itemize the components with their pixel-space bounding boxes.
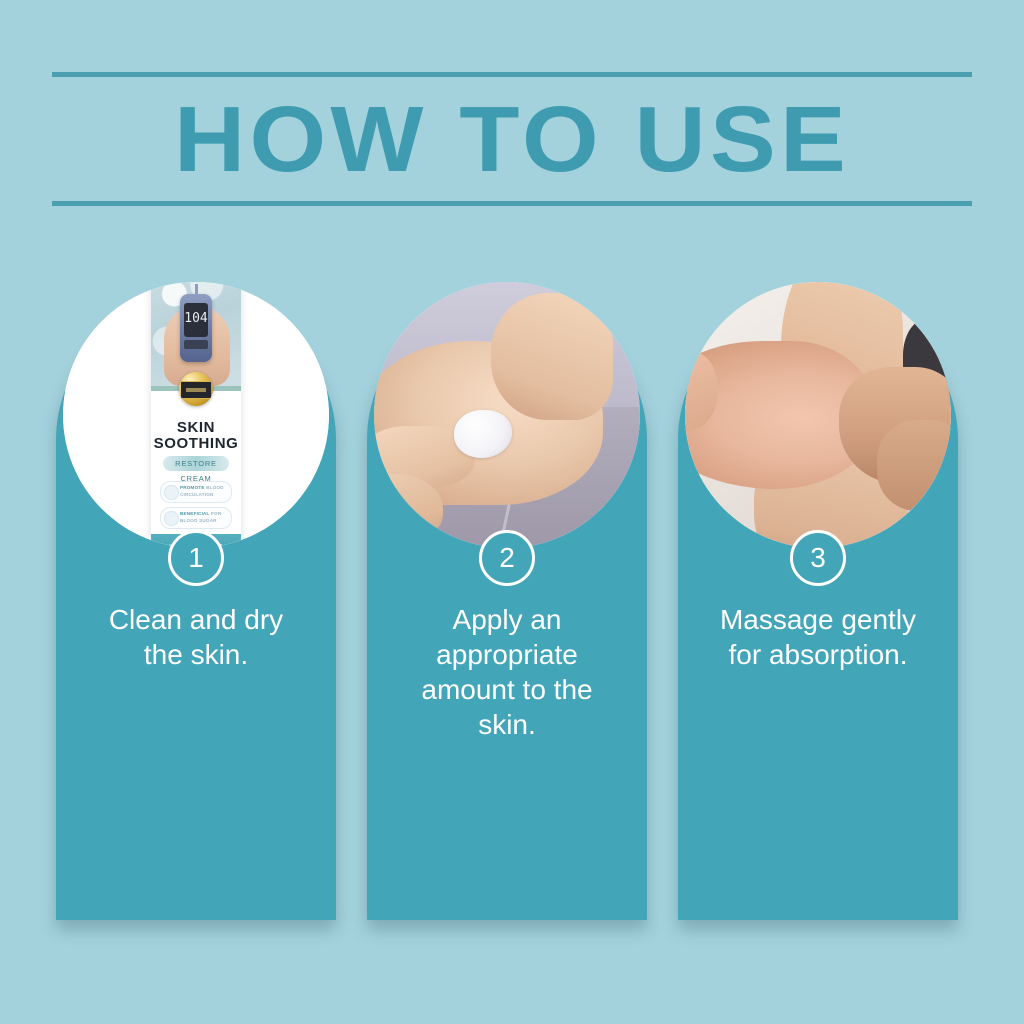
cream-tube: 104 SKIN SOOTHING [151, 282, 241, 548]
product-feature-1-text: PROMOTE BLOOD CIRCULATION [180, 485, 228, 498]
step-number-badge-1: 1 [168, 530, 224, 586]
step-caption-3: Massage gently for absorption. [692, 602, 944, 672]
tube-label: SKIN SOOTHING RESTORE CREAM PROMOTE BLOO… [151, 386, 241, 534]
product-tube-illustration: 104 SKIN SOOTHING [63, 282, 329, 548]
ankle-shape [491, 293, 613, 421]
step-card-2[interactable]: 2 Apply an appropriate amount to the ski… [367, 300, 647, 920]
product-feature-1: PROMOTE BLOOD CIRCULATION [160, 481, 232, 503]
steps-row: 104 SKIN SOOTHING [56, 300, 968, 920]
header: HOW TO USE [52, 72, 972, 206]
title-rule-bottom [52, 201, 972, 206]
cream-application-illustration [374, 282, 640, 548]
infographic-page: HOW TO USE 104 [0, 0, 1024, 1024]
second-hand-shape [877, 420, 951, 510]
step-number-badge-3: 3 [790, 530, 846, 586]
brand-line-2: SOOTHING [151, 436, 241, 452]
product-feature-2: BENEFICIAL FOR BLOOD SUGAR [160, 507, 232, 529]
product-feature-2-text: BENEFICIAL FOR BLOOD SUGAR [180, 511, 228, 524]
step-3-photo [685, 282, 951, 548]
step-card-1[interactable]: 104 SKIN SOOTHING [56, 300, 336, 920]
blood-sugar-icon [164, 511, 179, 526]
premium-quality-badge-icon [179, 372, 213, 406]
product-brand: SKIN SOOTHING [151, 420, 241, 452]
meter-reading: 104 [184, 303, 208, 337]
brand-line-1: SKIN [151, 420, 241, 436]
step-number-badge-2: 2 [479, 530, 535, 586]
foot-massage-illustration [685, 282, 951, 548]
step-1-photo: 104 SKIN SOOTHING [63, 282, 329, 548]
tube-top-artwork: 104 [151, 282, 241, 386]
step-caption-1: Clean and dry the skin. [70, 602, 322, 672]
step-2-photo [374, 282, 640, 548]
glucose-meter-icon: 104 [180, 294, 212, 362]
circulation-icon [164, 485, 179, 500]
page-title: HOW TO USE [24, 77, 999, 201]
step-card-3[interactable]: 3 Massage gently for absorption. [678, 300, 958, 920]
meter-buttons [184, 340, 208, 349]
product-subtitle: RESTORE CREAM [163, 456, 229, 471]
step-caption-2: Apply an appropriate amount to the skin. [381, 602, 633, 742]
